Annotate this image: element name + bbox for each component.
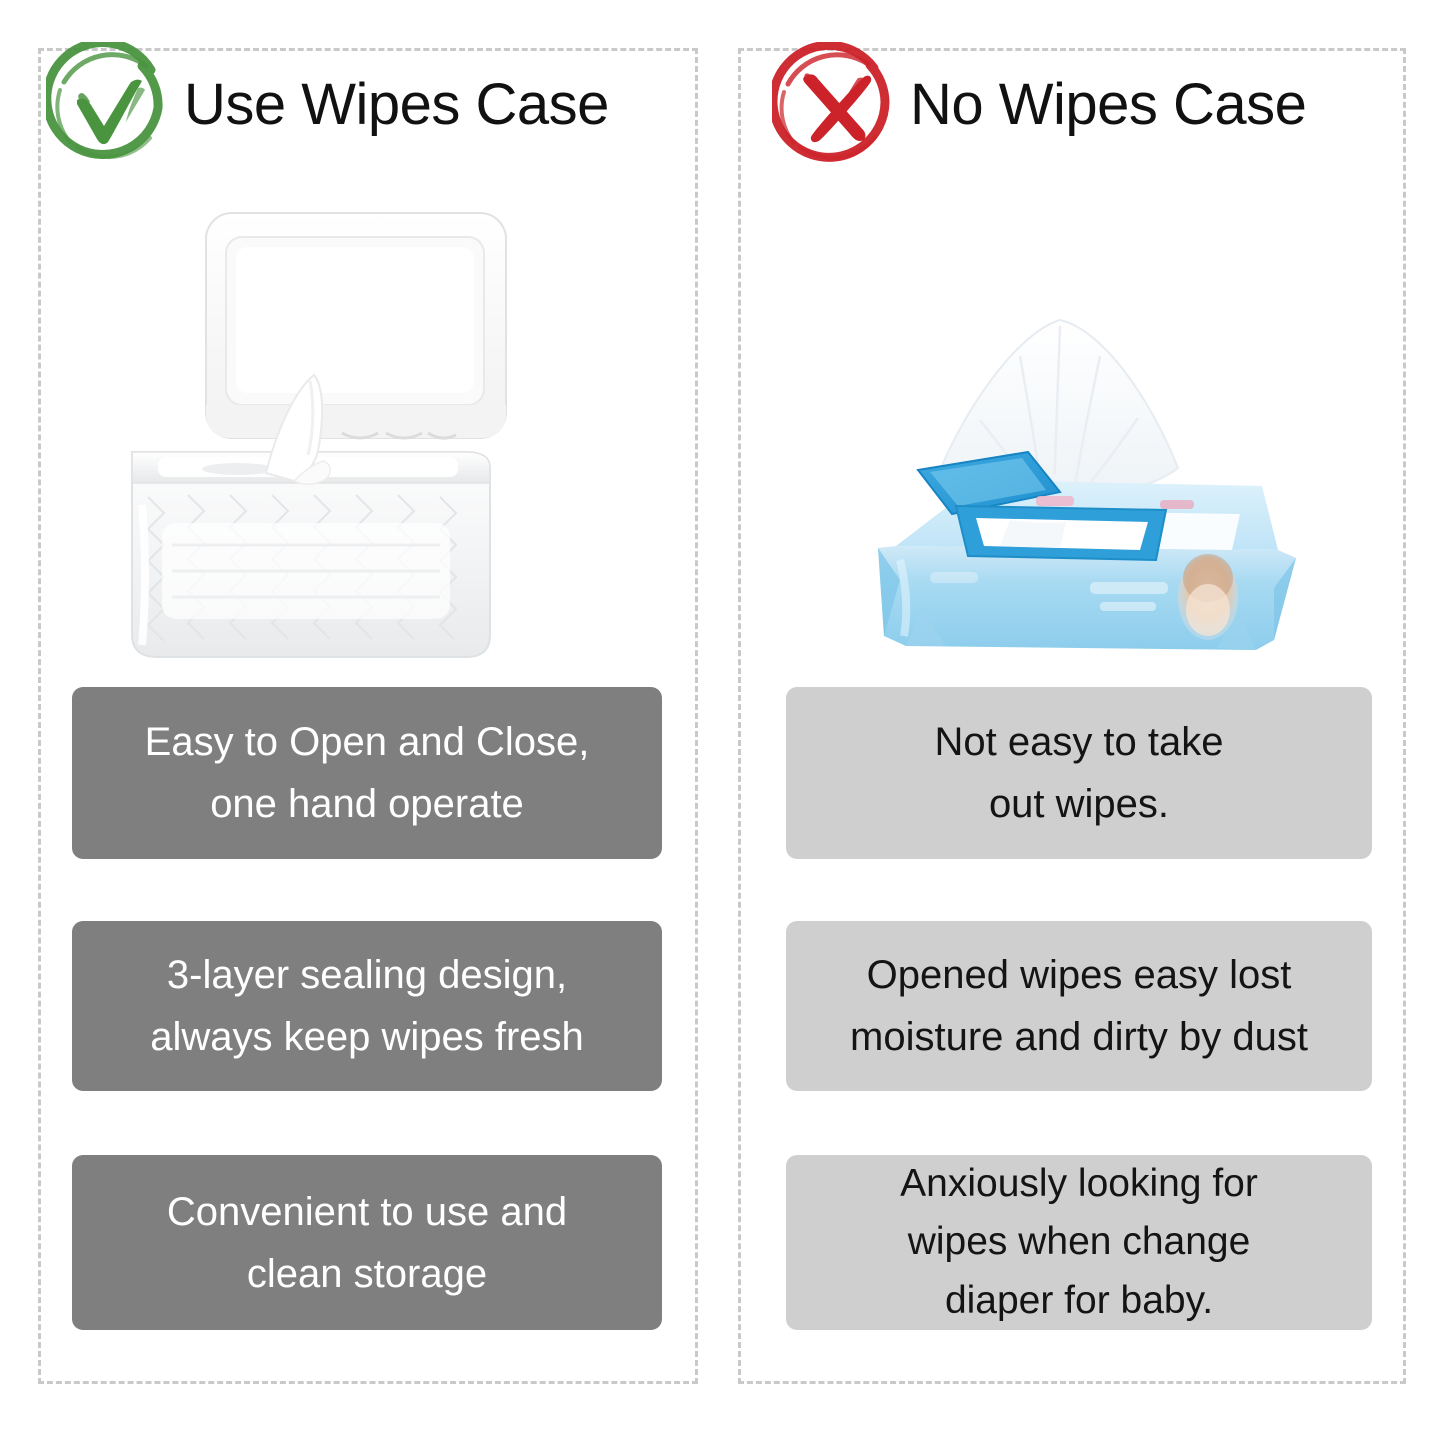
con-feature-1-line1: Not easy to take [934,720,1223,764]
comparison-infographic: Use Wipes Case [0,0,1445,1445]
pro-feature-1-line2: one hand operate [210,782,524,826]
pro-panel-title: Use Wipes Case [184,76,609,134]
con-feature-box-1: Not easy to take out wipes. [786,687,1372,859]
pro-feature-box-1: Easy to Open and Close, one hand operate [72,687,662,859]
con-feature-2-line1: Opened wipes easy lost [867,953,1292,997]
wipes-pack-product-image [860,310,1310,665]
con-panel-title: No Wipes Case [910,76,1306,134]
red-cross-circle-icon [772,42,898,168]
con-feature-box-3: Anxiously looking for wipes when change … [786,1155,1372,1330]
con-feature-3-line2: wipes when change [908,1220,1251,1263]
con-feature-3-line1: Anxiously looking for [900,1162,1258,1205]
con-feature-3-line3: diaper for baby. [945,1279,1213,1322]
pro-feature-box-2: 3-layer sealing design, always keep wipe… [72,921,662,1091]
pro-feature-2-line1: 3-layer sealing design, [167,953,567,997]
con-panel-header: No Wipes Case [772,42,1306,168]
wipes-case-product-image [118,205,548,670]
pro-feature-2-line2: always keep wipes fresh [150,1015,584,1059]
pro-feature-1-line1: Easy to Open and Close, [145,720,590,764]
pro-feature-box-3: Convenient to use and clean storage [72,1155,662,1330]
pro-feature-3-line2: clean storage [247,1252,487,1296]
con-feature-2-line2: moisture and dirty by dust [850,1015,1308,1059]
pro-panel-header: Use Wipes Case [46,42,609,168]
green-check-circle-icon [46,42,172,168]
pro-feature-3-line1: Convenient to use and [167,1190,567,1234]
con-feature-box-2: Opened wipes easy lost moisture and dirt… [786,921,1372,1091]
con-feature-1-line2: out wipes. [989,782,1169,826]
